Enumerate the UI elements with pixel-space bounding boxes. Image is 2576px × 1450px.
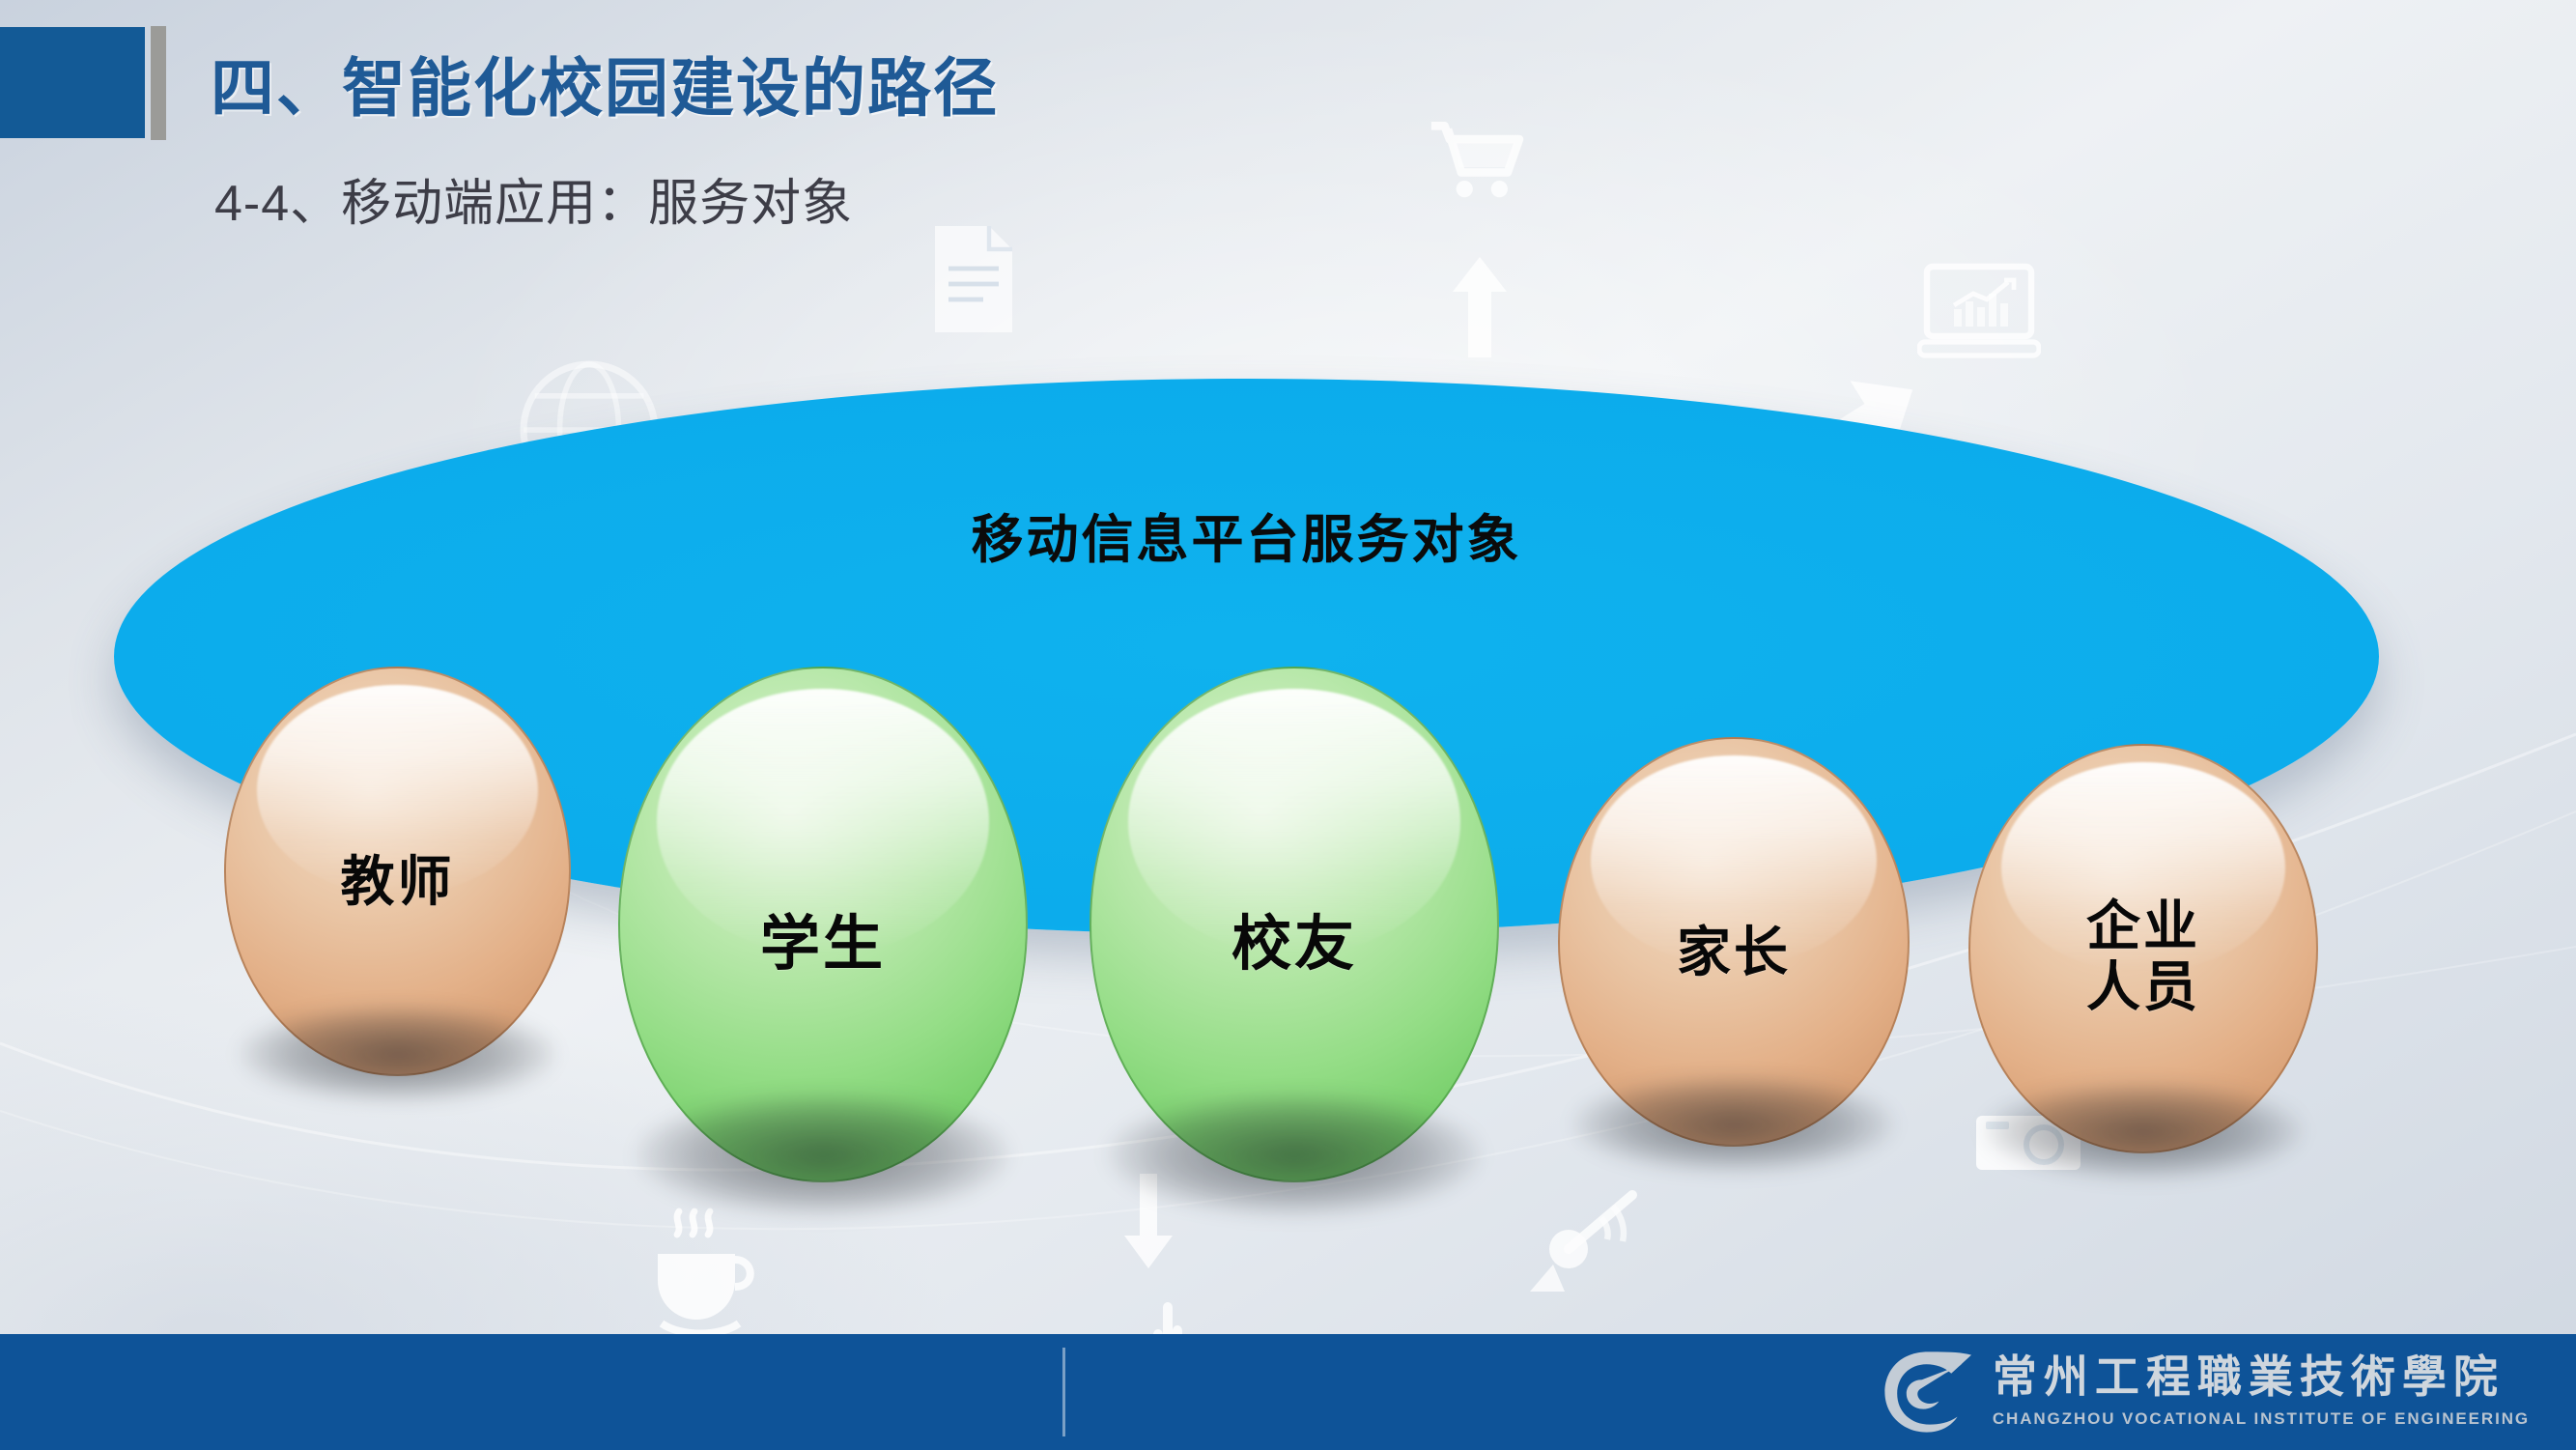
slide-header: 四、智能化校园建设的路径: [0, 27, 999, 138]
slide-subtitle: 4-4、移动端应用：服务对象: [214, 162, 853, 235]
footer-divider: [1062, 1348, 1065, 1436]
audience-label: 学生: [760, 911, 886, 978]
shopping-cart-icon: [1425, 116, 1531, 222]
sphere-shadow: [1108, 1094, 1481, 1216]
broadcast-icon: [1516, 1183, 1652, 1299]
sphere-shadow: [1984, 1083, 2302, 1180]
platform-label: 移动信息平台服务对象: [114, 497, 2379, 573]
coffee-cup-icon: [642, 1208, 758, 1343]
audience-label: 校友: [1231, 911, 1357, 978]
arrow-up-icon: [1449, 253, 1511, 361]
institution-logo: 常州工程職業技術學院 CHANGZHOU VOCATIONAL INSTITUT…: [1875, 1346, 2530, 1438]
audience-label-line1: 企业: [2086, 896, 2200, 957]
laptop-chart-icon: [1917, 263, 2041, 363]
institution-name-en: CHANGZHOU VOCATIONAL INSTITUTE OF ENGINE…: [1993, 1409, 2530, 1429]
audience-sphere-student[interactable]: 学生: [618, 667, 1028, 1182]
audience-sphere-alumni[interactable]: 校友: [1090, 667, 1499, 1182]
audience-label-stack: 企业 人员: [2086, 896, 2200, 1017]
document-icon: [927, 222, 1020, 336]
header-accent-block: [0, 27, 145, 138]
slide-footer: 常州工程職業技術學院 CHANGZHOU VOCATIONAL INSTITUT…: [0, 1334, 2576, 1450]
audience-sphere-enterprise[interactable]: 企业 人员: [1968, 744, 2318, 1153]
audience-sphere-parent[interactable]: 家长: [1558, 737, 1910, 1147]
sphere-shadow: [637, 1094, 1009, 1216]
audience-sphere-teacher[interactable]: 教师: [224, 667, 571, 1076]
institution-name-cn: 常州工程職業技術學院: [1993, 1355, 2530, 1400]
sphere-shadow: [240, 1006, 555, 1103]
header-accent-bar: [151, 26, 166, 140]
sphere-shadow: [1573, 1076, 1893, 1174]
audience-label-line2: 人员: [2086, 957, 2200, 1018]
institution-logo-mark: [1875, 1346, 1975, 1438]
institution-name-block: 常州工程職業技術學院 CHANGZHOU VOCATIONAL INSTITUT…: [1993, 1355, 2530, 1429]
audience-label: 家长: [1677, 923, 1791, 983]
page-title: 四、智能化校园建设的路径: [211, 37, 999, 129]
audience-label: 教师: [341, 852, 455, 913]
